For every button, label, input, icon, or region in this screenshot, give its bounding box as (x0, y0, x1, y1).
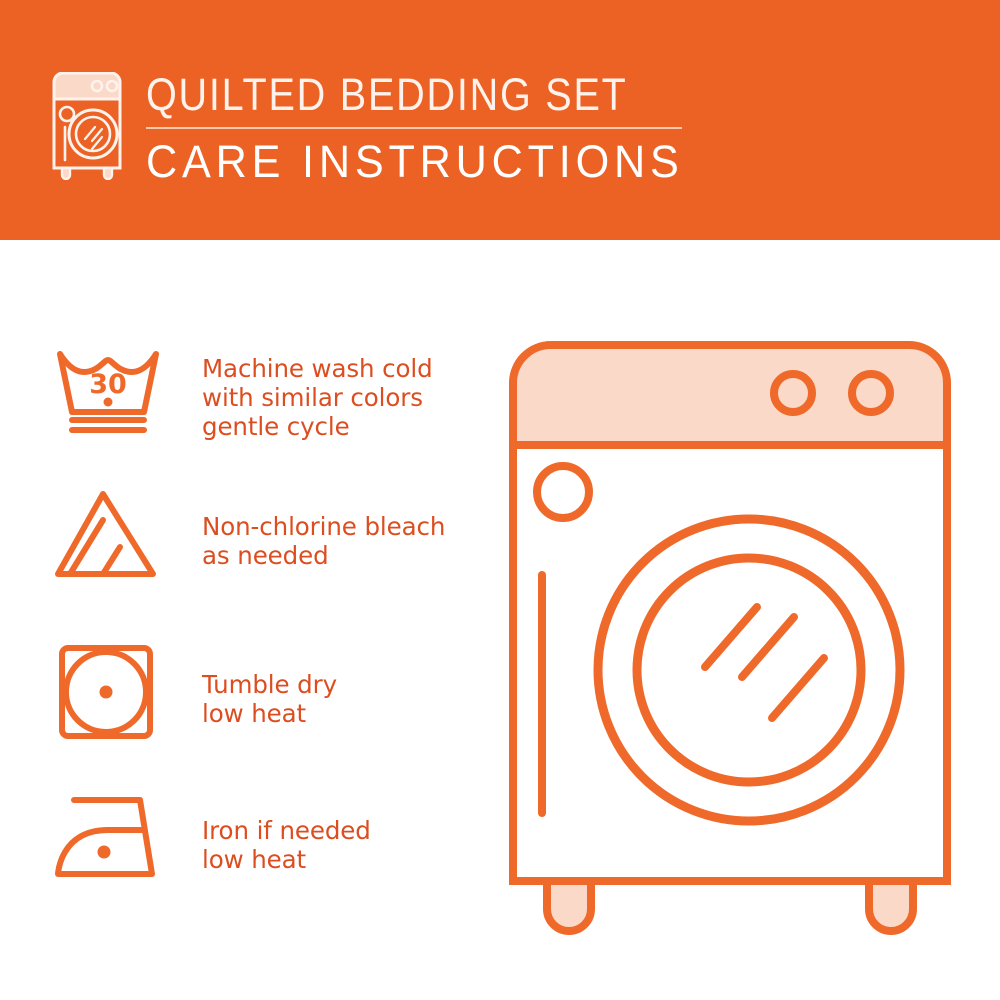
care-text-line: low heat (202, 699, 337, 728)
care-instruction-text: Machine wash cold with similar colors ge… (202, 354, 433, 441)
care-text-line: low heat (202, 845, 371, 874)
machine-wash-tub-icon: 30 (48, 340, 168, 448)
care-instructions-infographic: QUILTED BEDDING SET CARE INSTRUCTIONS 30… (0, 0, 1000, 1000)
non-chlorine-bleach-triangle-icon (48, 482, 168, 590)
care-text-line: as needed (202, 541, 445, 570)
tumble-dry-icon (48, 638, 168, 746)
leg (869, 881, 913, 931)
care-text-line: Tumble dry (202, 670, 337, 699)
page-subtitle: CARE INSTRUCTIONS (146, 137, 684, 187)
washing-machine-illustration (495, 335, 965, 935)
wash-temperature-label: 30 (89, 369, 127, 400)
control-panel (513, 345, 947, 445)
care-text-line: Non-chlorine bleach (202, 512, 445, 541)
title-divider (146, 127, 682, 129)
care-text-line: Iron if needed (202, 816, 371, 845)
washing-machine-icon (44, 72, 130, 180)
care-instruction-text: Non-chlorine bleach as needed (202, 512, 445, 570)
care-text-line: with similar colors (202, 383, 433, 412)
care-instruction-text: Tumble dry low heat (202, 670, 337, 728)
care-instruction-text: Iron if needed low heat (202, 816, 371, 874)
header-banner: QUILTED BEDDING SET CARE INSTRUCTIONS (0, 0, 1000, 240)
page-title: QUILTED BEDDING SET (146, 70, 639, 120)
header-text-block: QUILTED BEDDING SET CARE INSTRUCTIONS (146, 70, 706, 187)
leg (547, 881, 591, 931)
care-text-line: Machine wash cold (202, 354, 433, 383)
iron-icon (48, 788, 168, 896)
care-text-line: gentle cycle (202, 412, 433, 441)
